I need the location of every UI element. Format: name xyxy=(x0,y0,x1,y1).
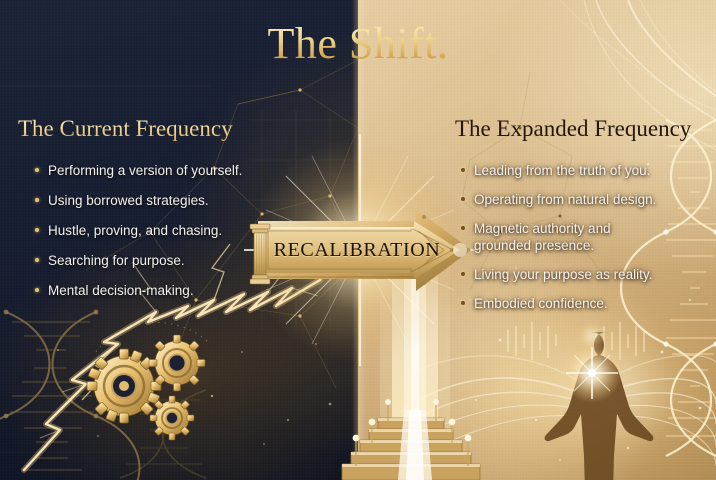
list-item: Hustle, proving, and chasing. xyxy=(34,222,284,239)
list-item: Mental decision-making. xyxy=(34,282,284,299)
right-panel-bullet-list: Leading from the truth of you. Operating… xyxy=(460,162,705,324)
list-item: Magnetic authority and grounded presence… xyxy=(460,220,705,254)
list-item: Leading from the truth of you. xyxy=(460,162,705,179)
list-item: Performing a version of yourself. xyxy=(34,162,284,179)
shift-infographic: RECALIBRATION The Shift. The Shift. The … xyxy=(0,0,716,480)
recalibration-label: RECALIBRATION xyxy=(262,207,452,293)
page-title: The Shift. The Shift. xyxy=(0,18,716,70)
list-item: Operating from natural design. xyxy=(460,191,705,208)
left-panel-heading: The Current Frequency xyxy=(18,116,233,142)
list-item: Searching for purpose. xyxy=(34,252,284,269)
list-item: Embodied confidence. xyxy=(460,295,705,312)
recalibration-banner[interactable]: RECALIBRATION xyxy=(248,207,473,293)
right-panel-heading: The Expanded Frequency xyxy=(455,116,691,142)
list-item: Living your purpose as reality. xyxy=(460,266,705,283)
left-panel-bullet-list: Performing a version of yourself. Using … xyxy=(34,162,284,312)
page-title-text: The Shift. xyxy=(268,19,449,68)
list-item: Using borrowed strategies. xyxy=(34,192,284,209)
